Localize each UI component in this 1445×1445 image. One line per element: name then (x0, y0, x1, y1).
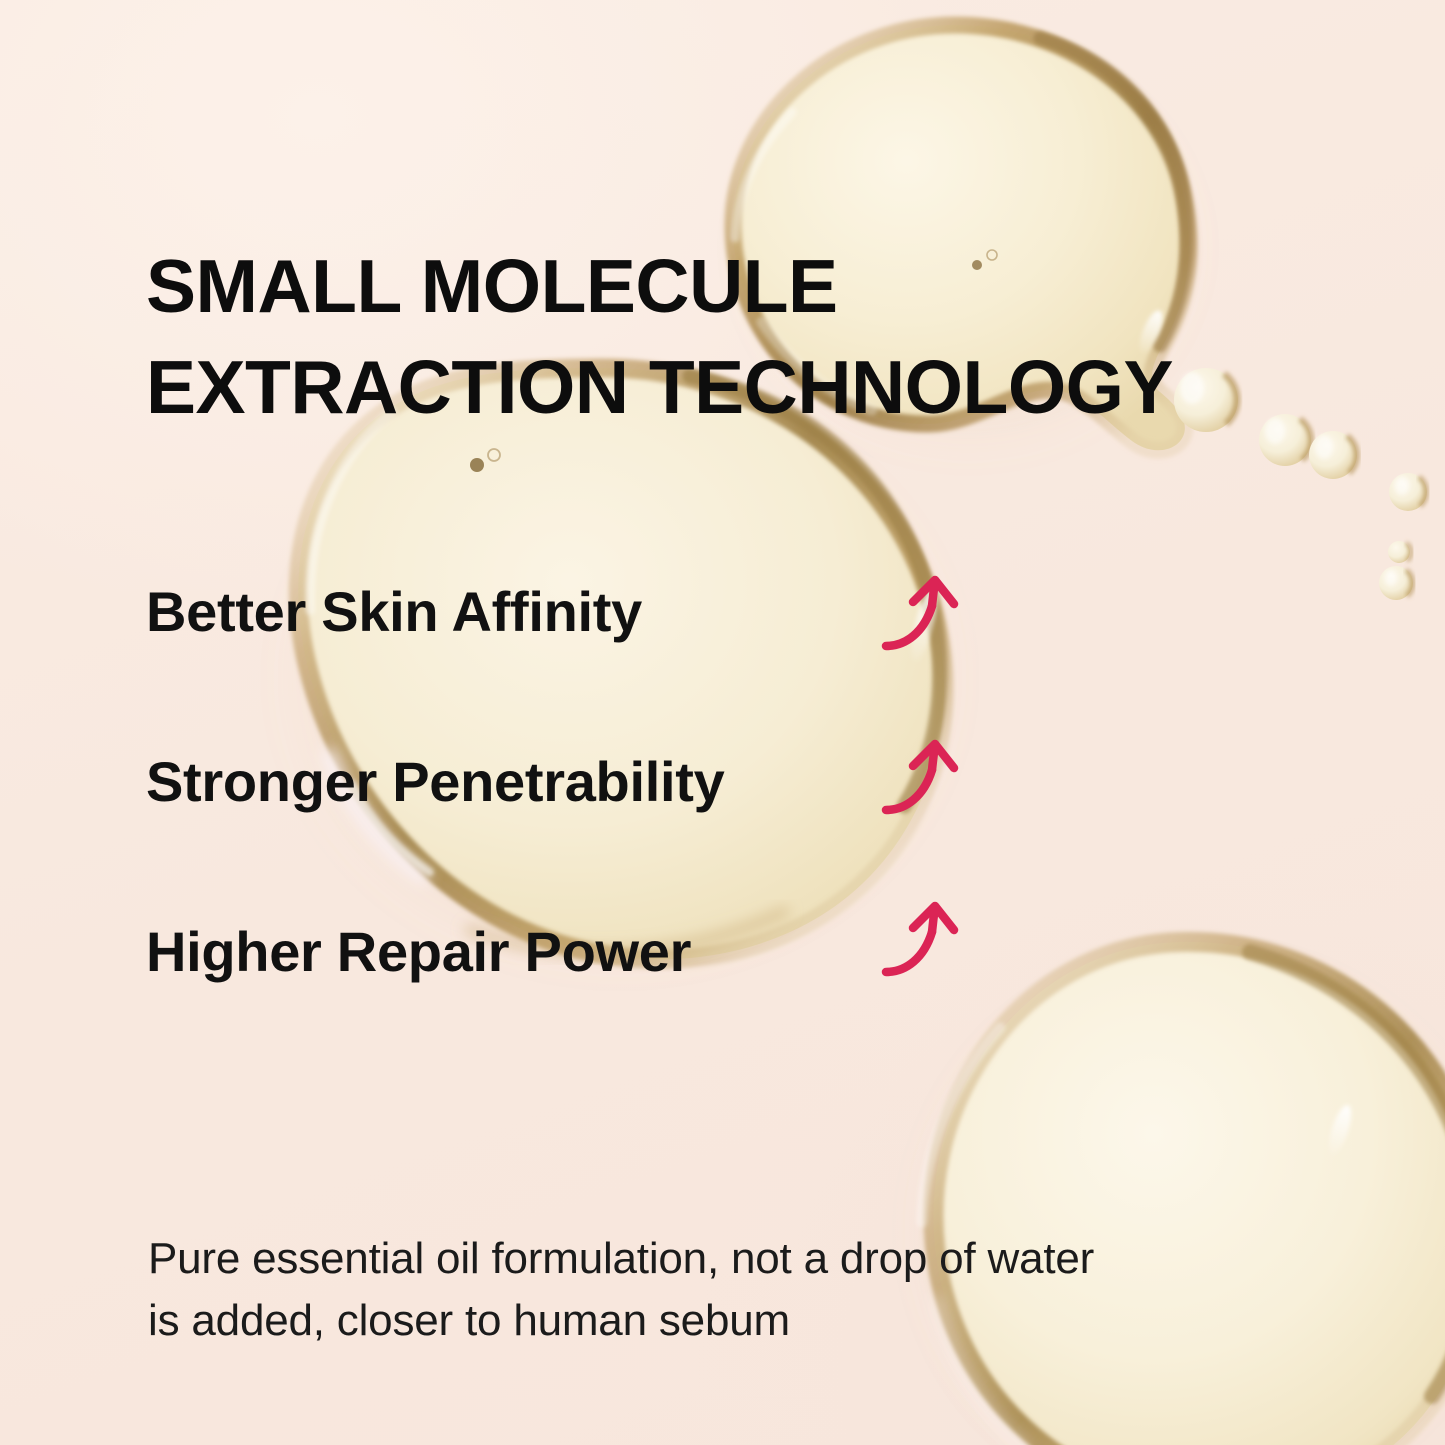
product-feature-poster: SMALL MOLECULE EXTRACTION TECHNOLOGY Bet… (0, 0, 1445, 1445)
feature-item: Higher Repair Power (146, 924, 1146, 1094)
page-title: SMALL MOLECULE EXTRACTION TECHNOLOGY (146, 236, 1346, 437)
curved-up-arrow-icon (880, 892, 966, 984)
curved-up-arrow-icon (880, 730, 966, 822)
feature-benefit-list: Better Skin Affinity Stronger Penetrabil… (146, 584, 1146, 1094)
poster-content: SMALL MOLECULE EXTRACTION TECHNOLOGY Bet… (0, 0, 1445, 1445)
feature-label-repair-power: Higher Repair Power (146, 924, 691, 980)
feature-label-skin-affinity: Better Skin Affinity (146, 584, 642, 640)
feature-item: Stronger Penetrability (146, 754, 1146, 924)
footer-caption: Pure essential oil formulation, not a dr… (148, 1228, 1338, 1353)
curved-up-arrow-icon (880, 566, 966, 658)
feature-item: Better Skin Affinity (146, 584, 1146, 754)
feature-label-penetrability: Stronger Penetrability (146, 754, 724, 810)
